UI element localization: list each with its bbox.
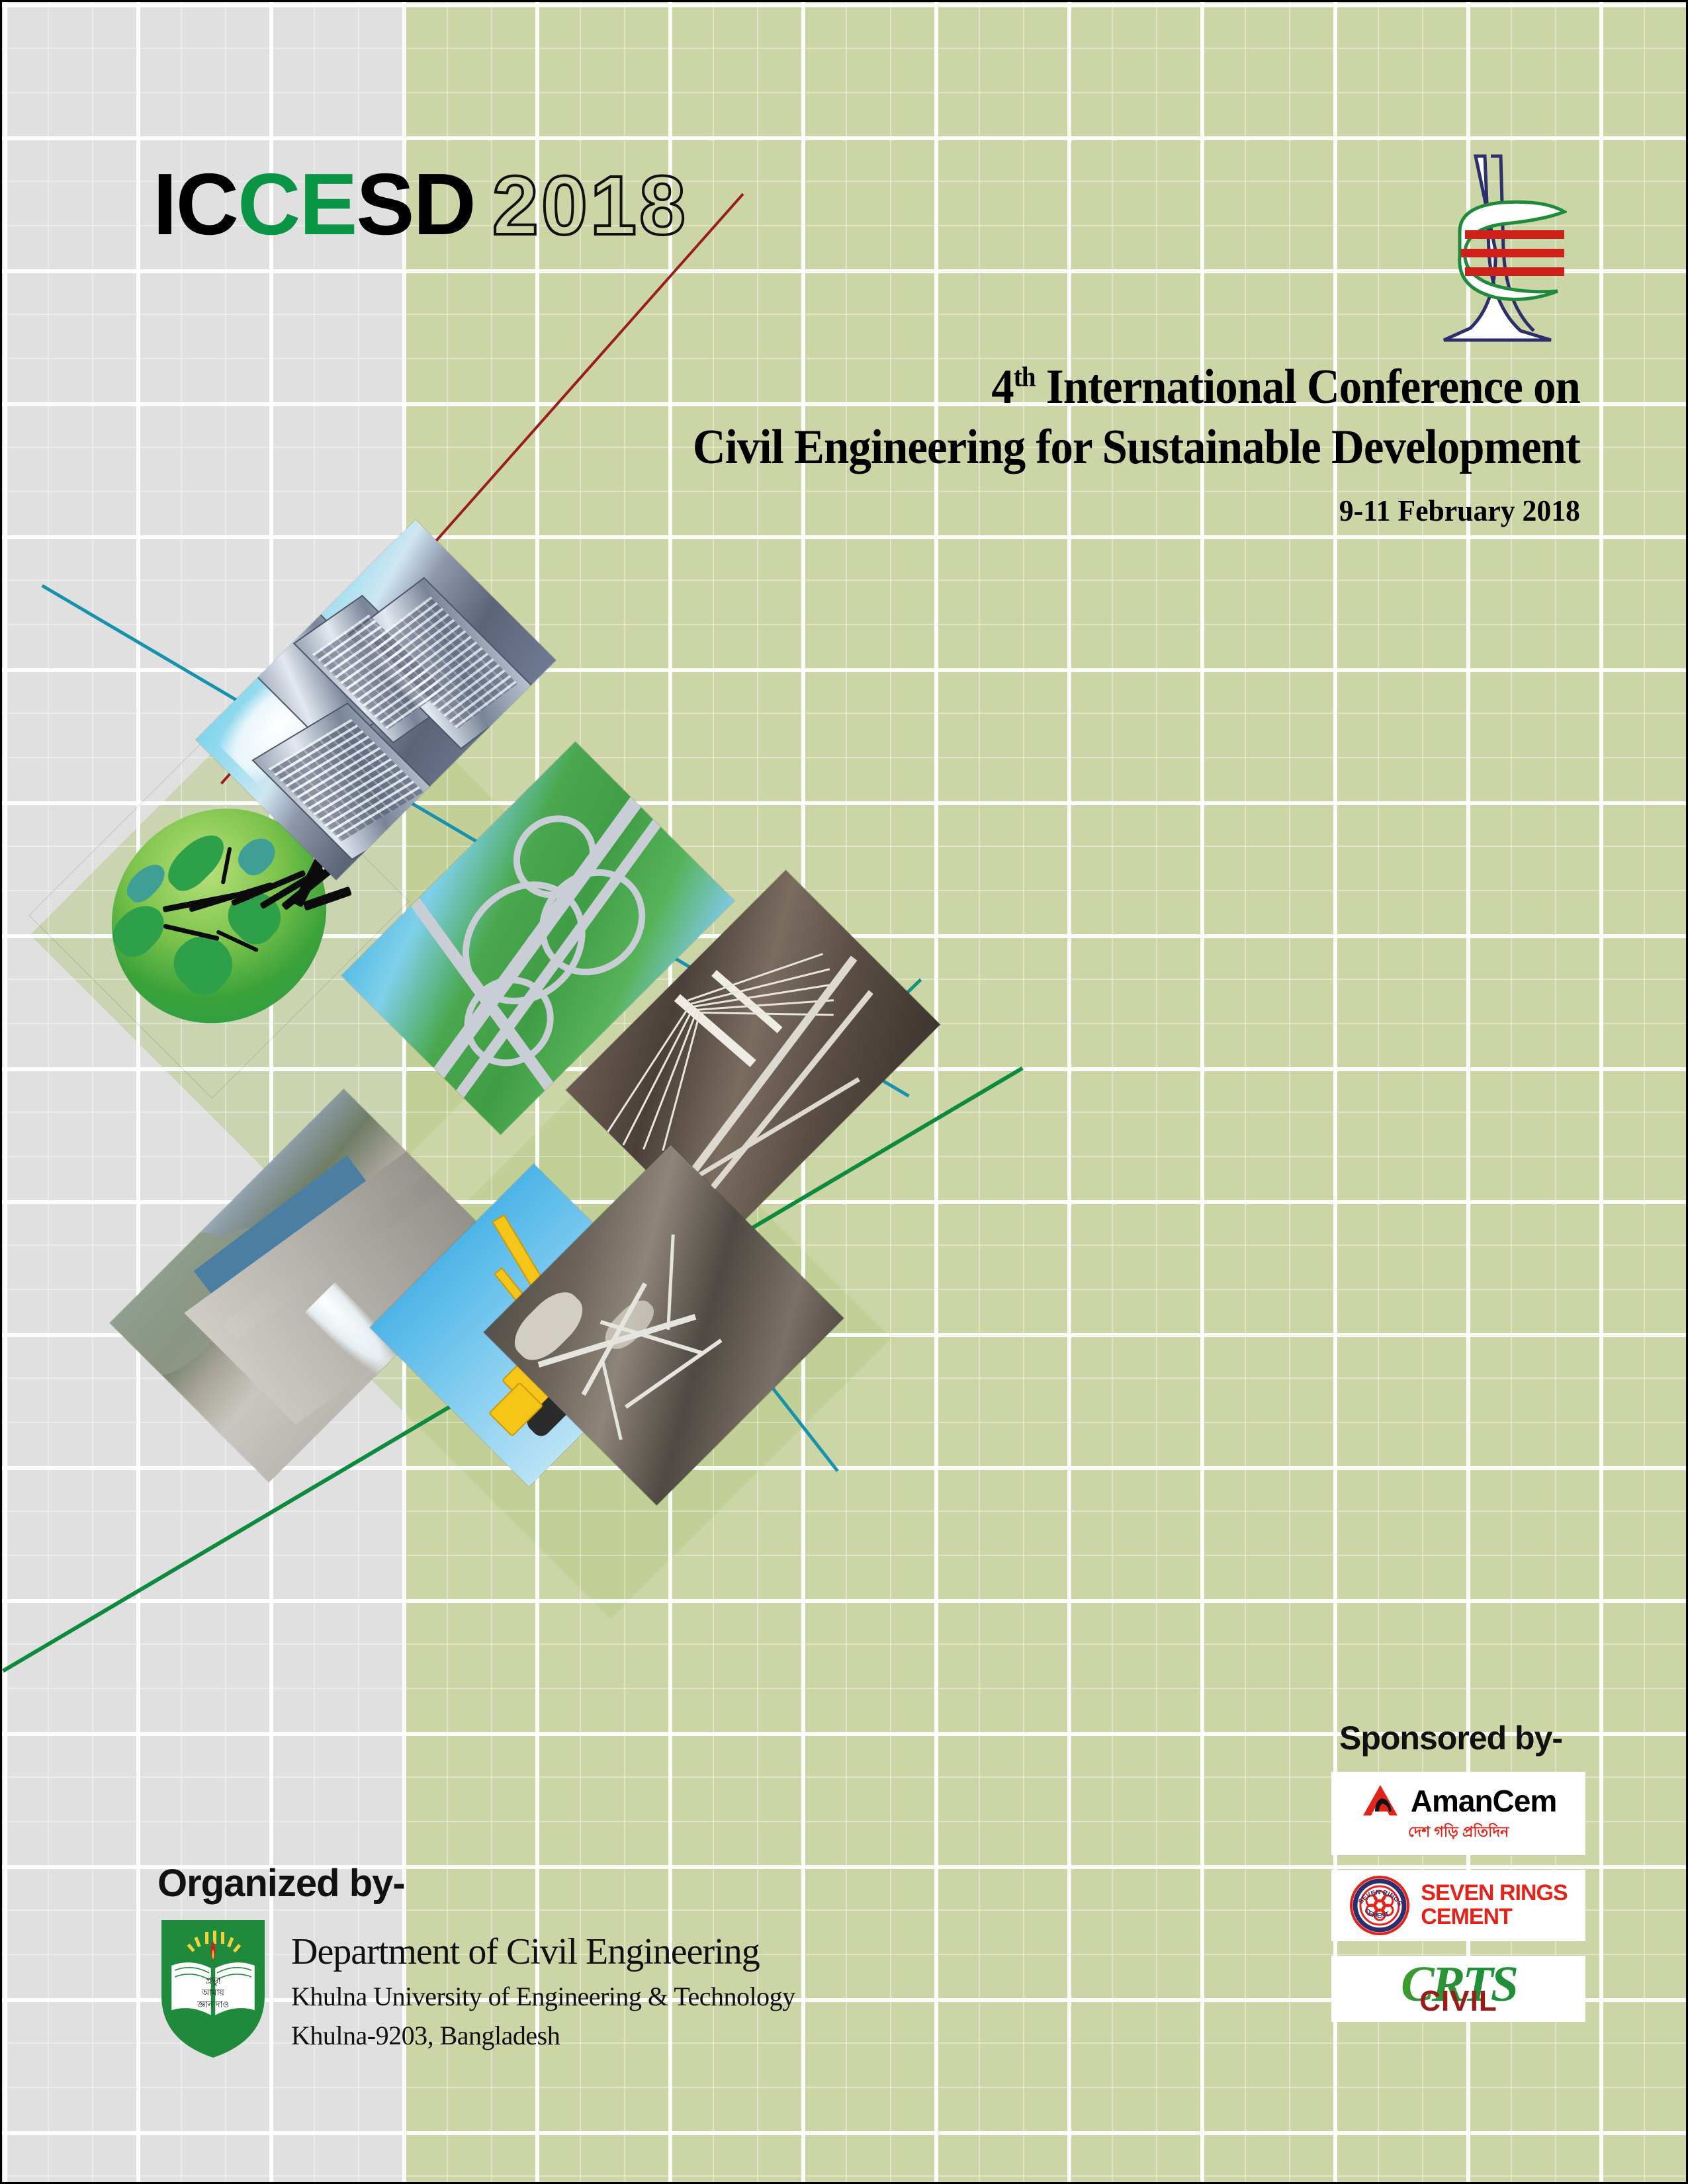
seven-rings-emblem-icon: SEVEN RINGS CEMENT — [1349, 1875, 1410, 1936]
brand-part-sd: SD — [356, 155, 474, 253]
sponsor-logo-crts-civil: CRTS CIVIL — [1331, 1956, 1585, 2022]
brand-year: 2018 — [492, 159, 688, 252]
organizer-university: Khulna University of Engineering & Techn… — [291, 1981, 795, 2012]
event-acronym-logo: ICCESD2018 — [153, 161, 688, 248]
conference-title-block: 4th International Conference on Civil En… — [626, 359, 1580, 528]
conference-ordinal: 4 — [991, 360, 1013, 414]
seal-motto-line3: জ্ঞান দাও — [197, 1999, 229, 2009]
sponsor-logo-seven-rings: SEVEN RINGS CEMENT SEVEN RINGS CEMENT — [1331, 1870, 1585, 1941]
crts-civil-wordmark: CIVIL — [1359, 1985, 1558, 2018]
seven-rings-wordmark-line2: CEMENT — [1421, 1905, 1567, 1929]
organizer-department: Department of Civil Engineering — [291, 1931, 795, 1973]
organizer-address: Khulna-9203, Bangladesh — [291, 2020, 795, 2051]
brand-part-ce: CE — [238, 155, 356, 253]
conference-title-line-2: Civil Engineering for Sustainable Develo… — [693, 419, 1580, 476]
seal-motto-line1: প্রভু! — [205, 1976, 220, 1986]
conference-dates: 9-11 February 2018 — [674, 493, 1580, 528]
seven-rings-wordmark-line1: SEVEN RINGS — [1421, 1882, 1567, 1905]
organized-by-label: Organized by- — [157, 1861, 795, 1905]
kuet-tower-emblem-icon — [1428, 151, 1567, 343]
conference-title-line-1: 4th International Conference on — [693, 359, 1580, 415]
seal-ring-text: খুলনা প্রকস্বল ও প্রযুক্তি বিশ্ববিদ্যালয… — [157, 1917, 163, 1920]
sponsors-block: Sponsored by- AmanCem দেশ গড়ি প্রতিদিন — [1331, 1719, 1585, 2022]
amancem-wordmark: AmanCem — [1411, 1783, 1557, 1819]
brand-part-ic: IC — [153, 155, 238, 253]
amancem-mark-icon — [1360, 1782, 1401, 1819]
amancem-tagline: দেশ গড়ি প্রতিদিন — [1408, 1821, 1509, 1845]
sponsored-by-label: Sponsored by- — [1339, 1719, 1585, 1757]
conference-cover-page: ICCESD2018 4th International Conference … — [0, 0, 1688, 2184]
conference-ordinal-suffix: th — [1014, 362, 1036, 392]
organized-by-block: Organized by- — [157, 1861, 795, 2060]
conference-title-rest: International Conference on — [1036, 360, 1580, 414]
seal-motto-line2: আমায় — [201, 1987, 224, 1997]
kuet-shield-seal-icon: প্রভু! আমায় জ্ঞান দাও খুলনা প্রকস্বল ও … — [157, 1917, 269, 2060]
sponsor-logo-amancem: AmanCem দেশ গড়ি প্রতিদিন — [1331, 1772, 1585, 1855]
